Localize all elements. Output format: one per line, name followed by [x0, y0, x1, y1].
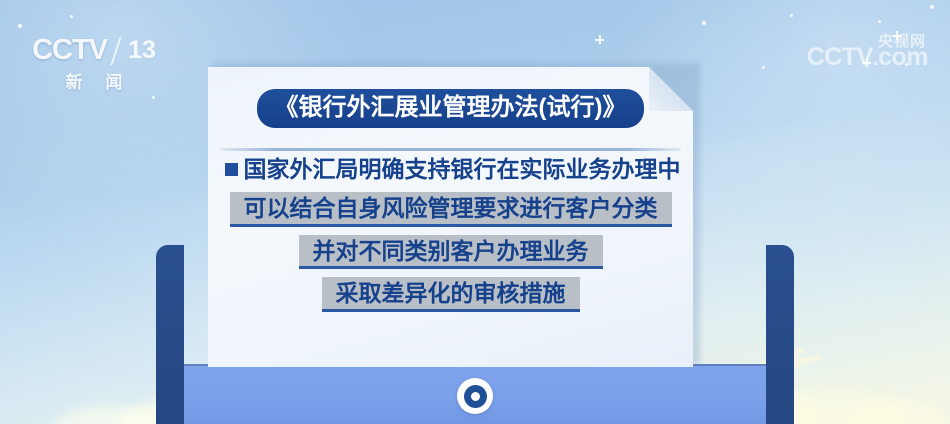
cloud-shape [840, 398, 950, 424]
home-button-ring [464, 385, 487, 408]
card-line: 可以结合自身风险管理要求进行客户分类 [208, 192, 693, 227]
cloud-shape [52, 406, 162, 424]
channel-logo: CCTV 13 新 闻 [26, 36, 162, 93]
content-card: 《银行外汇展业管理办法(试行)》 国家外汇局明确支持银行在实际业务办理中可以结合… [208, 67, 693, 367]
watermark-tld: com [878, 43, 928, 71]
card-line: 国家外汇局明确支持银行在实际业务办理中 [208, 155, 693, 184]
card-line-list: 国家外汇局明确支持银行在实际业务办理中可以结合自身风险管理要求进行客户分类并对不… [208, 155, 693, 320]
sparkle-dot [152, 96, 155, 99]
page-title: 《银行外汇展业管理办法(试行)》 [275, 95, 627, 120]
sparkle-dot [790, 14, 793, 17]
watermark-brand: CCTV [807, 43, 873, 71]
sparkle-dot [878, 20, 881, 23]
channel-brand: CCTV [32, 36, 107, 65]
channel-separator-icon [111, 37, 122, 65]
card-line-text: 国家外汇局明确支持银行在实际业务办理中 [244, 155, 681, 184]
channel-number: 13 [125, 38, 156, 63]
home-button[interactable] [457, 378, 493, 414]
card-line: 采取差异化的审核措施 [208, 277, 693, 312]
channel-name: 新 闻 [26, 68, 162, 93]
sparkle-dot [70, 15, 73, 18]
watermark: 央视网 CCTV.com [807, 34, 928, 70]
card-line-text-highlighted: 采取差异化的审核措施 [322, 277, 580, 312]
device-bezel-left [156, 245, 184, 424]
title-divider [220, 148, 681, 151]
device-bezel-right [766, 245, 794, 424]
channel-logo-row: CCTV 13 [26, 36, 162, 65]
card-line: 并对不同类别客户办理业务 [208, 235, 693, 270]
sparkle-plus [595, 35, 604, 44]
sparkle-dot [930, 5, 934, 9]
bullet-square-icon [225, 163, 238, 176]
sparkle-dot [762, 66, 765, 69]
home-button-dot [471, 392, 480, 401]
device-bottom-bar [184, 364, 766, 424]
sparkle-dot [702, 21, 706, 25]
broadcast-screen: CCTV 13 新 闻 央视网 CCTV.com 《银行外汇展业管理办法(试行)… [0, 0, 950, 424]
card-line-text-highlighted: 可以结合自身风险管理要求进行客户分类 [230, 192, 672, 227]
watermark-domain: CCTV.com [807, 45, 928, 70]
card-title-pill: 《银行外汇展业管理办法(试行)》 [257, 89, 645, 128]
card-line-text-highlighted: 并对不同类别客户办理业务 [299, 235, 603, 270]
sparkle-dot [18, 24, 22, 28]
